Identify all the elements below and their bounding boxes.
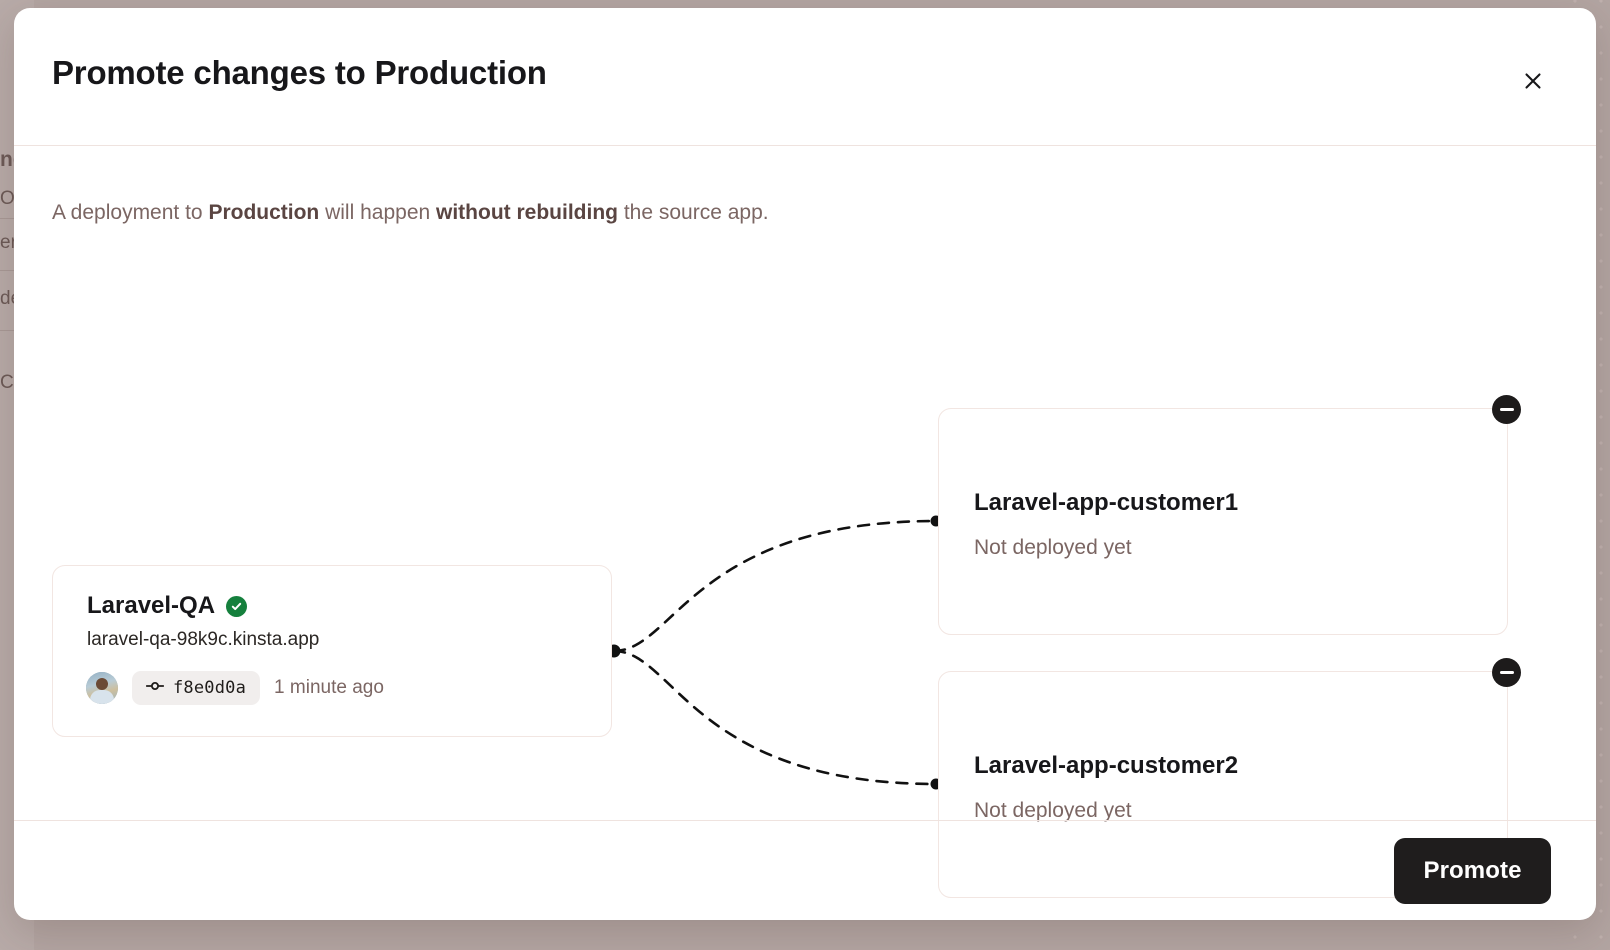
description-bold-rebuilding: without rebuilding: [436, 201, 618, 224]
commit-hash-text: f8e0d0a: [173, 678, 246, 698]
close-icon: [1522, 70, 1544, 92]
source-meta-row: f8e0d0a 1 minute ago: [86, 671, 384, 705]
close-button[interactable]: [1516, 64, 1550, 98]
minus-circle-icon[interactable]: [1492, 658, 1521, 687]
check-circle-icon: [226, 596, 247, 617]
promote-button[interactable]: Promote: [1394, 838, 1551, 904]
dialog-footer: Promote: [14, 820, 1596, 919]
target-environment-name: Laravel-app-customer1: [974, 489, 1238, 517]
source-environment-url[interactable]: laravel-qa-98k9c.kinsta.app: [87, 629, 319, 651]
source-deploy-time: 1 minute ago: [274, 677, 384, 699]
description-suffix: the source app.: [618, 201, 769, 224]
target-deploy-status: Not deployed yet: [974, 536, 1132, 560]
description-prefix: A deployment to: [52, 201, 208, 224]
source-environment-name: Laravel-QA: [87, 592, 215, 620]
description-bold-production: Production: [208, 201, 319, 224]
page-title: Promote changes to Production: [52, 54, 547, 92]
minus-circle-icon[interactable]: [1492, 395, 1521, 424]
target-environment-name: Laravel-app-customer2: [974, 752, 1238, 780]
connector-to-target-1: [614, 521, 936, 651]
promote-changes-dialog: Promote changes to Production A deployme…: [14, 8, 1596, 920]
avatar: [86, 672, 118, 704]
deployment-graph: Laravel-QA laravel-qa-98k9c.kinsta.app: [14, 146, 1596, 820]
dialog-header: Promote changes to Production: [14, 8, 1596, 146]
commit-hash-chip[interactable]: f8e0d0a: [132, 671, 260, 705]
description-text: A deployment to Production will happen w…: [52, 198, 769, 227]
description-middle: will happen: [319, 201, 436, 224]
source-environment-card[interactable]: Laravel-QA laravel-qa-98k9c.kinsta.app: [52, 565, 612, 737]
source-name-row: Laravel-QA: [87, 592, 247, 620]
connector-to-target-2: [614, 651, 936, 784]
git-commit-icon: [146, 679, 164, 698]
target-environment-card[interactable]: Laravel-app-customer1 Not deployed yet: [938, 408, 1508, 635]
dialog-body: A deployment to Production will happen w…: [14, 146, 1596, 820]
